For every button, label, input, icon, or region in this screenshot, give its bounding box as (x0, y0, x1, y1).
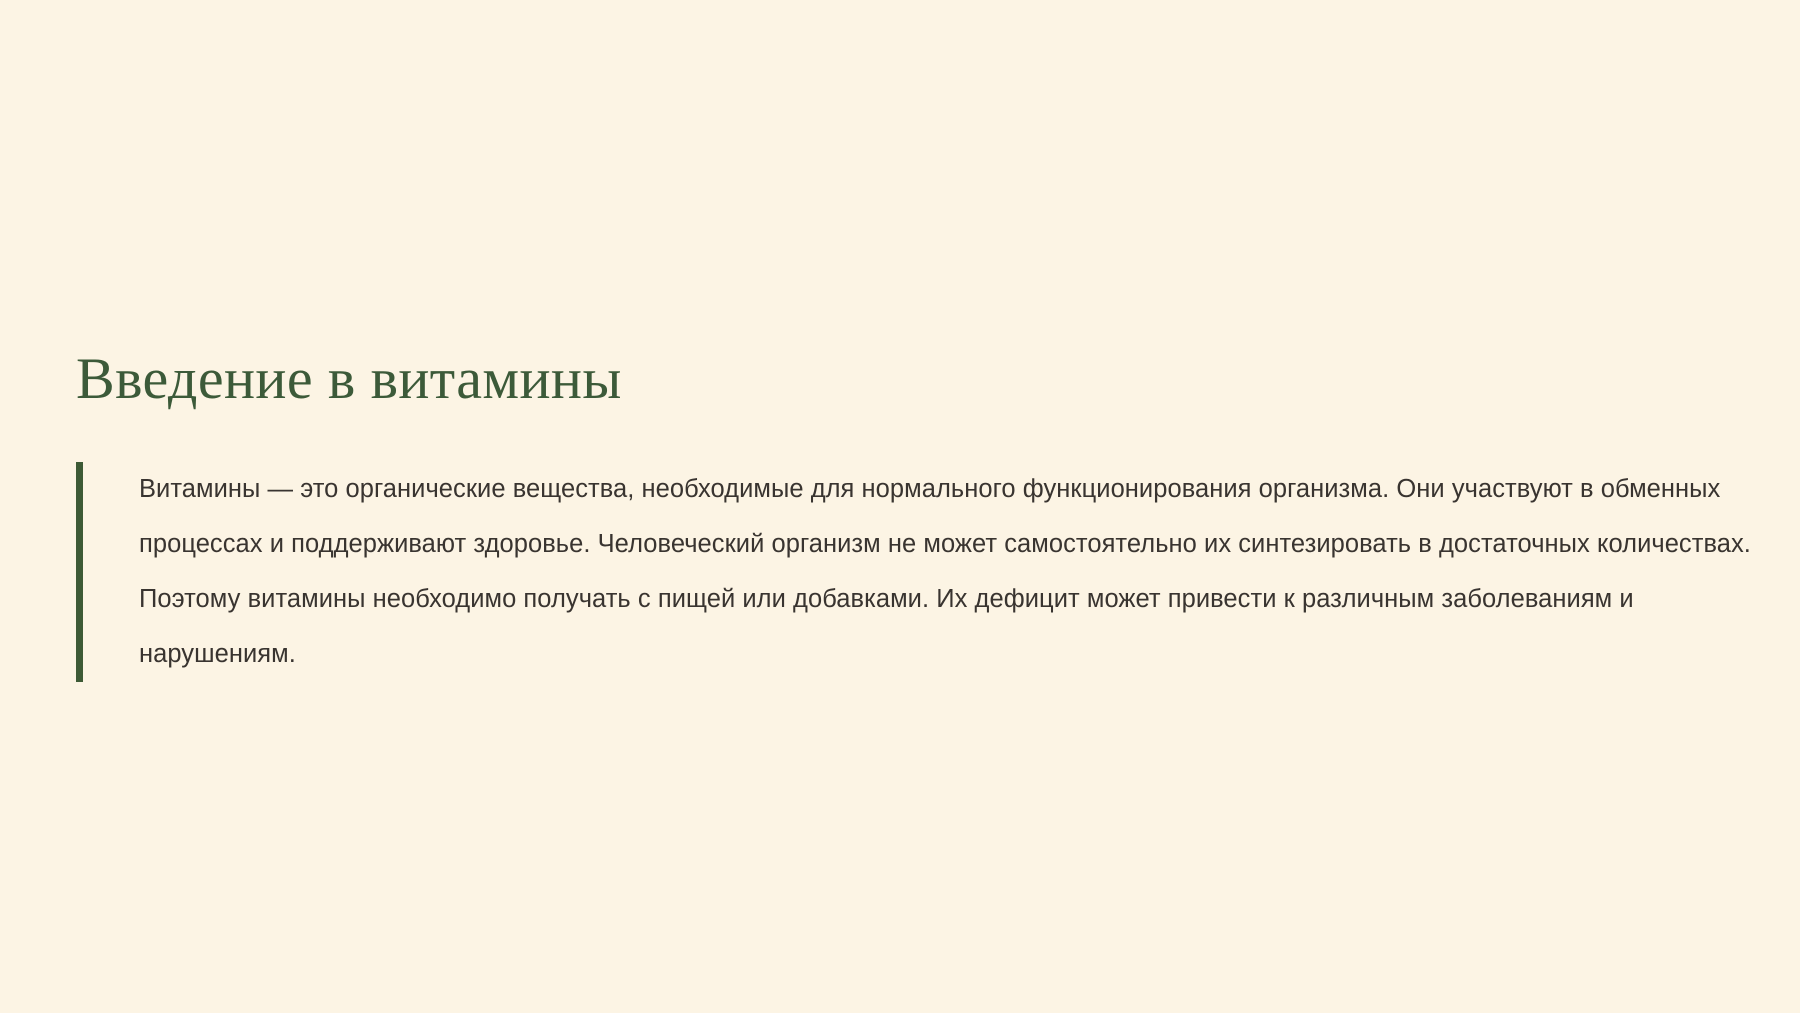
accent-bar (76, 462, 83, 682)
page-title: Введение в витамины (76, 348, 622, 411)
intro-paragraph: Витамины — это органические вещества, не… (83, 462, 1766, 682)
slide-canvas: Введение в витамины Витамины — это орган… (0, 0, 1800, 1013)
intro-callout-block: Витамины — это органические вещества, не… (76, 462, 1766, 682)
